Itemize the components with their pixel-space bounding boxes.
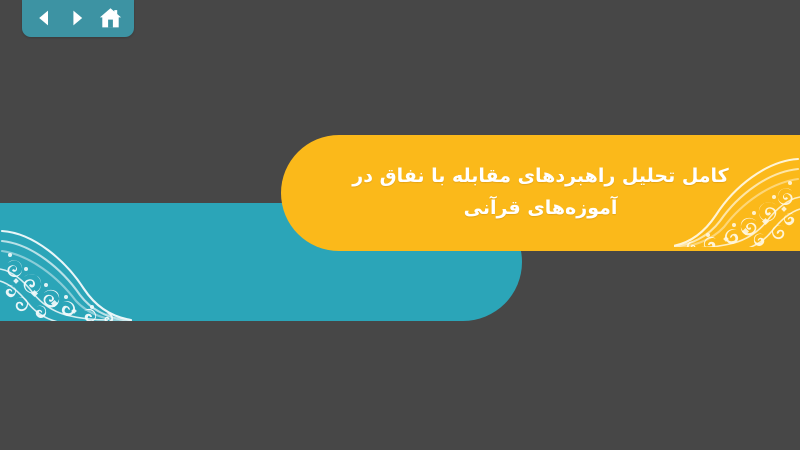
nav-forward-button[interactable] (64, 5, 90, 31)
arabesque-corner-ornament-icon (0, 203, 132, 321)
arabesque-corner-ornament-icon (674, 135, 800, 247)
nav-back-button[interactable] (31, 5, 57, 31)
slide-canvas: کامل تحلیل راهبردهای مقابله با نفاق در آ… (0, 0, 800, 450)
home-icon (99, 7, 122, 29)
previous-triangle-icon (34, 8, 54, 28)
title-banner (281, 135, 800, 251)
nav-home-button[interactable] (97, 5, 123, 31)
next-triangle-icon (67, 8, 87, 28)
navigation-bar (22, 0, 134, 37)
